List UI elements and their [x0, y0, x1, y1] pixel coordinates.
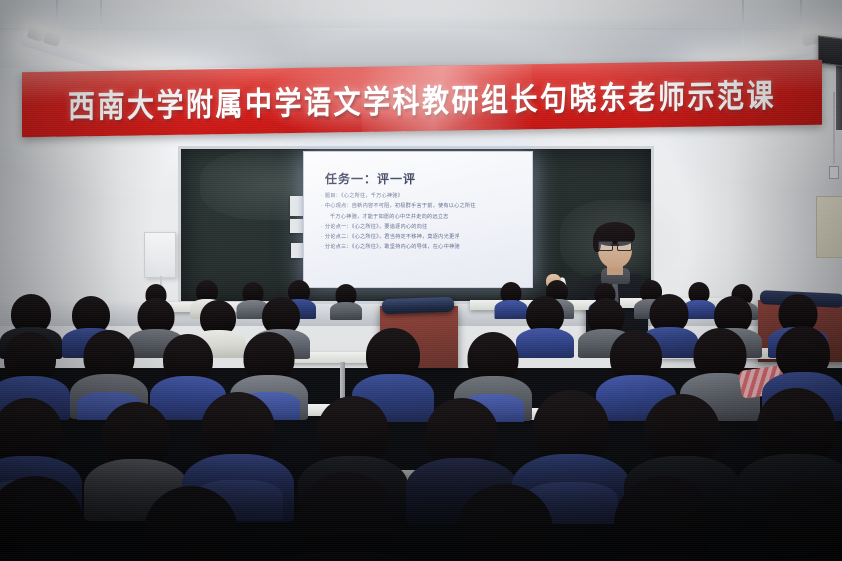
slide-line: ·分论点一：《心之所往》，要追逐内心的向往 [321, 223, 522, 231]
wall-control-box [144, 232, 176, 278]
student-shoulders [0, 552, 110, 561]
slide-line: ·分论点二：《心之所往》，君当持定不移神，莫逐内光更浮 [321, 233, 522, 241]
student-shoulders [268, 552, 424, 561]
student-audience [0, 280, 842, 561]
paper-on-blackboard [290, 219, 304, 233]
paper-on-blackboard [290, 196, 303, 216]
glasses-bridge [611, 244, 619, 246]
slide-bullet: · [321, 234, 323, 240]
light-rod [742, 0, 744, 44]
slide-bullet: · [321, 244, 323, 250]
student-shoulders [330, 302, 362, 320]
student [0, 476, 110, 561]
slide-line: ·题目：《心之所往，千万心神驰》 [321, 192, 522, 200]
slide-line-text: 分论点二：《心之所往》，君当持定不移神，莫逐内光更浮 [325, 234, 460, 240]
student-head [296, 472, 396, 561]
slide-bullet: · [321, 203, 323, 209]
student [268, 472, 424, 561]
slide-bullet: · [321, 193, 323, 199]
ceiling [0, 0, 842, 30]
paper-on-blackboard [291, 243, 303, 258]
slide-line: 千万心神驰，才能于如愿的心中华并走向的远立志 [321, 213, 522, 221]
notice-board [816, 196, 842, 258]
student-head [457, 484, 553, 561]
wall-switch[interactable] [829, 166, 839, 179]
switch-cord [833, 92, 835, 164]
slide-line-text: 千万心神驰，才能于如愿的心中华并走向的远立志 [330, 214, 449, 220]
desk-leg [340, 362, 345, 398]
slide-body: ·题目：《心之所往，千万心神驰》 ·中心观点：自新内容不可阻，初极群手言于前，使… [321, 192, 522, 254]
light-rod [800, 0, 802, 36]
student [430, 484, 580, 561]
student [736, 480, 842, 561]
classroom-photo: 西南大学附属中学语文学科教研组长句晓东老师示范课 任务一：评一评 ·题目：《心之… [0, 0, 842, 561]
banner-text: 西南大学附属中学语文学科教研组长句晓东老师示范课 [68, 70, 776, 127]
slide-line-text: 分论点三：《心之所往》，敢坚持内心的导体，在心中神驰 [325, 244, 460, 250]
event-banner: 西南大学附属中学语文学科教研组长句晓东老师示范课 [22, 60, 822, 138]
slide-line-text: 中心观点：自新内容不可阻，初极群手言于前，使有以心之所往 [325, 203, 476, 209]
projection-screen: 任务一：评一评 ·题目：《心之所往，千万心神驰》 ·中心观点：自新内容不可阻，初… [303, 151, 533, 288]
slide-line-text: 分论点一：《心之所往》，要追逐内心的向往 [325, 224, 428, 230]
student [330, 284, 362, 318]
slide-line: ·中心观点：自新内容不可阻，初极群手言于前，使有以心之所往 [321, 202, 522, 210]
student-head [614, 476, 714, 561]
slide-line: ·分论点三：《心之所往》，敢坚持内心的导体，在心中神驰 [321, 243, 522, 251]
door-edge [836, 60, 842, 130]
student [118, 486, 264, 561]
student [586, 476, 742, 561]
student-head [763, 480, 842, 561]
slide-line-text: 题目：《心之所往，千万心神驰》 [325, 193, 403, 199]
student-head [144, 486, 238, 561]
slide-title: 任务一：评一评 [325, 170, 416, 187]
light-rod [56, 0, 58, 30]
light-rod [100, 0, 102, 38]
student-head [0, 476, 83, 561]
slide-bullet: · [321, 224, 323, 230]
student-shoulders [586, 556, 742, 561]
